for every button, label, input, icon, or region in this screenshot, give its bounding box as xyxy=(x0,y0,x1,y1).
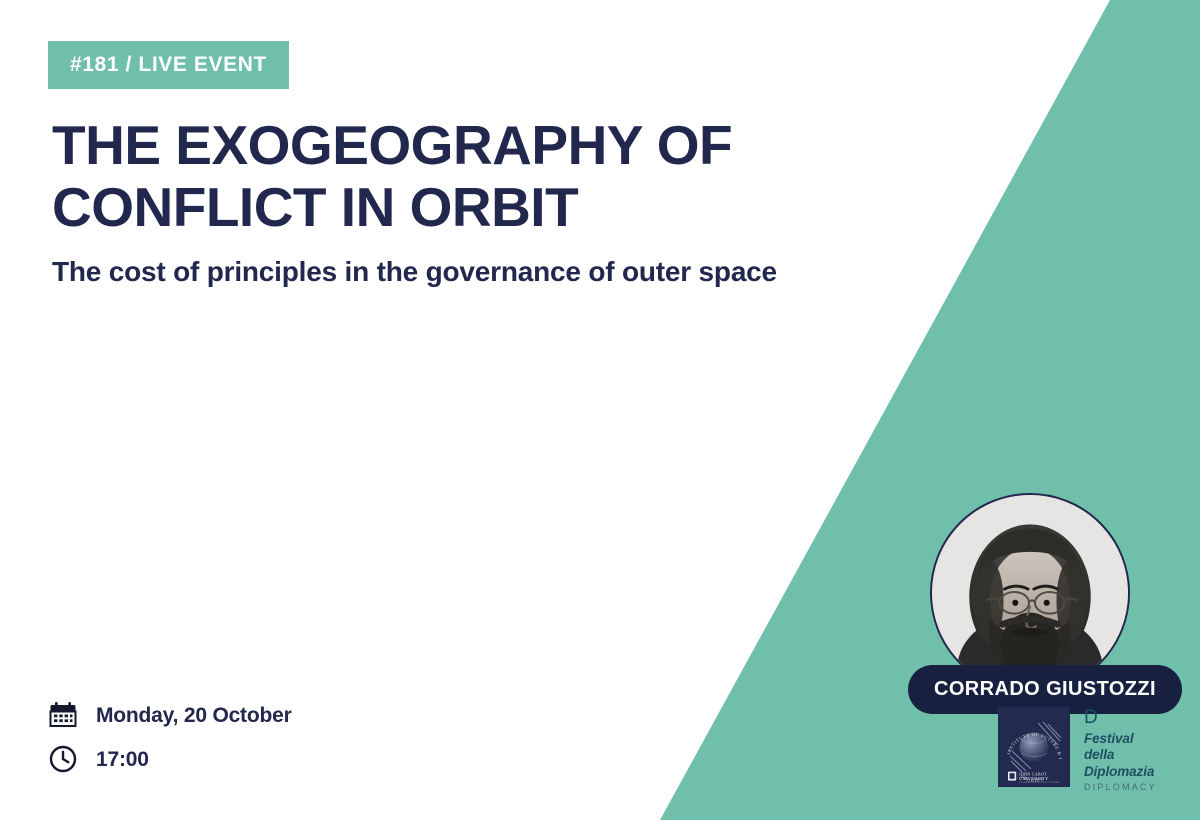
festival-line-3: Diplomazia xyxy=(1084,764,1157,780)
event-details: Monday, 20 October 17:00 xyxy=(48,700,292,774)
event-time: 17:00 xyxy=(96,749,149,770)
svg-text:AN AMERICAN UNIVERSITY IN ROME: AN AMERICAN UNIVERSITY IN ROME xyxy=(1019,781,1060,784)
event-title: THE EXOGEOGRAPHY OF CONFLICT IN ORBIT xyxy=(52,115,932,238)
institute-emblem-icon: INSTITUTE OF FUTURE & INNOVATION STUDIES… xyxy=(998,707,1070,787)
event-subtitle: The cost of principles in the governance… xyxy=(52,254,932,290)
date-row: Monday, 20 October xyxy=(48,700,292,730)
festival-line-1: Festival xyxy=(1084,731,1157,747)
headline-block: THE EXOGEOGRAPHY OF CONFLICT IN ORBIT Th… xyxy=(52,115,932,290)
logo-group: INSTITUTE OF FUTURE & INNOVATION STUDIES… xyxy=(998,707,1157,792)
time-row: 17:00 xyxy=(48,744,292,774)
festival-line-4: DIPLOMACY xyxy=(1084,783,1157,792)
event-number-badge: #181 / LIVE EVENT xyxy=(48,41,289,89)
calendar-icon xyxy=(48,700,78,730)
svg-text:UNIVERSITY: UNIVERSITY xyxy=(1019,776,1049,781)
clock-icon xyxy=(48,744,78,774)
event-poster: #181 / LIVE EVENT THE EXOGEOGRAPHY OF CO… xyxy=(0,0,1200,820)
festival-della-diplomazia-logo: D Festival della Diplomazia DIPLOMACY xyxy=(1084,707,1157,792)
festival-monogram: D xyxy=(1084,708,1157,727)
event-date: Monday, 20 October xyxy=(96,705,292,726)
speaker-portrait xyxy=(930,493,1130,693)
festival-name: Festival della Diplomazia xyxy=(1084,731,1157,780)
festival-line-2: della xyxy=(1084,747,1157,763)
